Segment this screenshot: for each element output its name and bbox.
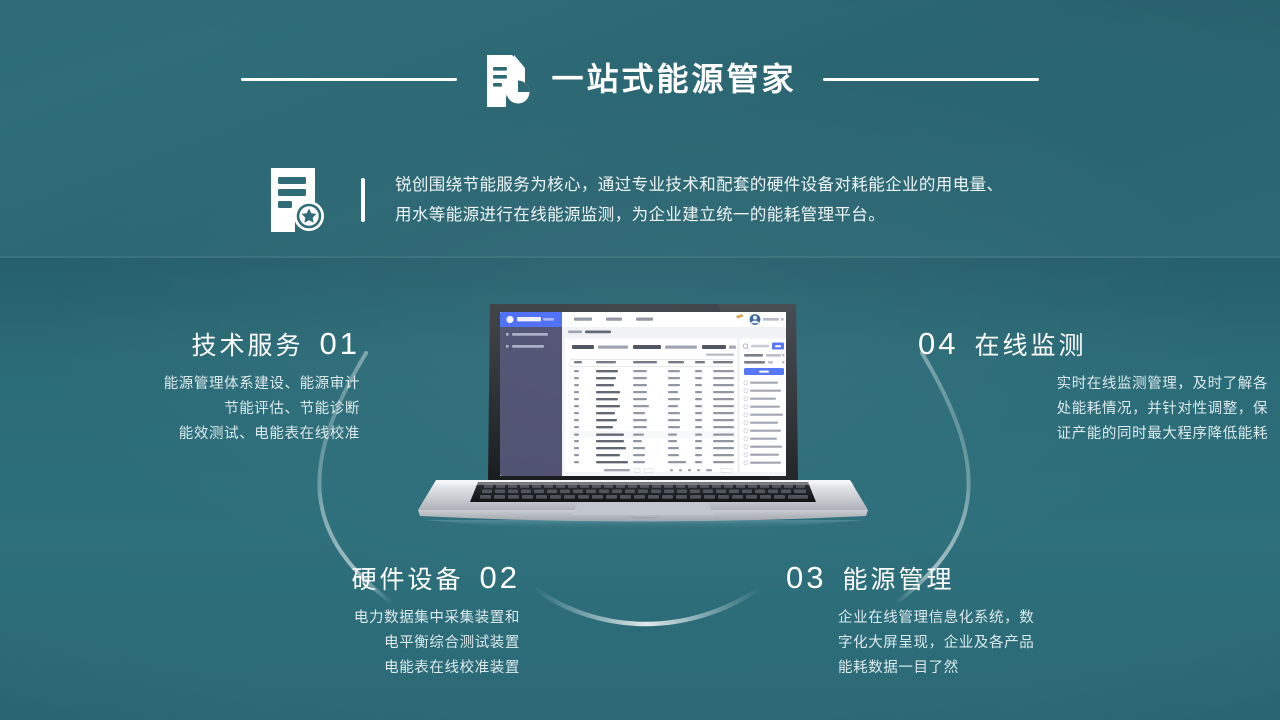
feature-03-body: 企业在线管理信息化系统，数 字化大屏呈现，企业及各产品 能耗数据一目了然 (838, 606, 1116, 681)
feature-02-heading: 硬件设备 02 (180, 562, 520, 595)
feature-block-01[interactable]: 技术服务 01 能源管理体系建设、能源审计 节能评估、节能诊断 能效测试、电能表… (20, 328, 360, 447)
feature-block-03[interactable]: 03 能源管理 企业在线管理信息化系统，数 字化大屏呈现，企业及各产品 能耗数据… (786, 562, 1116, 681)
divider-line-left (241, 78, 457, 81)
feature-block-02[interactable]: 硬件设备 02 电力数据集中采集装置和 电平衡综合测试装置 电能表在线校准装置 (180, 562, 520, 681)
feature-03-line-3: 能耗数据一目了然 (838, 656, 1116, 681)
feature-04-line-1: 实时在线监测管理，及时了解各 (918, 372, 1268, 397)
feature-01-body: 能源管理体系建设、能源审计 节能评估、节能诊断 能效测试、电能表在线校准 (20, 372, 360, 447)
feature-01-number: 01 (320, 328, 360, 359)
page-title: 一站式能源管家 (551, 63, 796, 95)
divider-line-right (823, 78, 1039, 81)
feature-03-heading: 03 能源管理 (786, 562, 1116, 595)
feature-01-line-3: 能效测试、电能表在线校准 (20, 422, 360, 447)
feature-03-number: 03 (786, 562, 826, 593)
document-pie-chart-icon (483, 51, 531, 107)
description-text: 锐创围绕节能服务为核心，通过专业技术和配套的硬件设备对耗能企业的用电量、 用水等… (395, 170, 1003, 230)
feature-block-04[interactable]: 04 在线监测 实时在线监测管理，及时了解各 处能耗情况，并针对性调整，保 证产… (918, 328, 1268, 447)
document-star-icon (265, 164, 327, 236)
description-accent-bar (361, 178, 365, 222)
feature-02-line-1: 电力数据集中采集装置和 (180, 606, 520, 631)
feature-04-heading: 04 在线监测 (918, 328, 1268, 361)
macbook-laptop (418, 296, 868, 536)
feature-04-line-3: 证产能的同时最大程序降低能耗 (918, 422, 1268, 447)
description-line-2: 用水等能源进行在线能源监测，为企业建立统一的能耗管理平台。 (395, 200, 1003, 230)
feature-01-title: 技术服务 (192, 332, 304, 361)
feature-04-line-2: 处能耗情况，并针对性调整，保 (918, 397, 1268, 422)
description-line-1: 锐创围绕节能服务为核心，通过专业技术和配套的硬件设备对耗能企业的用电量、 (395, 170, 1003, 200)
feature-02-number: 02 (480, 562, 520, 593)
title-group: 一站式能源管家 (483, 51, 796, 107)
feature-03-line-1: 企业在线管理信息化系统，数 (838, 606, 1116, 631)
feature-04-body: 实时在线监测管理，及时了解各 处能耗情况，并针对性调整，保 证产能的同时最大程序… (918, 372, 1268, 447)
slide-header: 一站式能源管家 (0, 44, 1280, 114)
feature-04-number: 04 (918, 328, 958, 359)
feature-01-line-1: 能源管理体系建设、能源审计 (20, 372, 360, 397)
slide-canvas: 一站式能源管家 锐创围绕节能服务为核心，通过专业技术和配套的硬件设备对耗能企业的… (0, 0, 1280, 720)
feature-02-line-2: 电平衡综合测试装置 (180, 631, 520, 656)
feature-03-line-2: 字化大屏呈现，企业及各产品 (838, 631, 1116, 656)
description-block: 锐创围绕节能服务为核心，通过专业技术和配套的硬件设备对耗能企业的用电量、 用水等… (265, 160, 1255, 240)
feature-02-line-3: 电能表在线校准装置 (180, 656, 520, 681)
feature-01-heading: 技术服务 01 (20, 328, 360, 361)
feature-01-line-2: 节能评估、节能诊断 (20, 397, 360, 422)
feature-04-title: 在线监测 (974, 332, 1086, 361)
feature-03-title: 能源管理 (842, 566, 954, 595)
feature-02-body: 电力数据集中采集装置和 电平衡综合测试装置 电能表在线校准装置 (180, 606, 520, 681)
feature-02-title: 硬件设备 (352, 566, 464, 595)
